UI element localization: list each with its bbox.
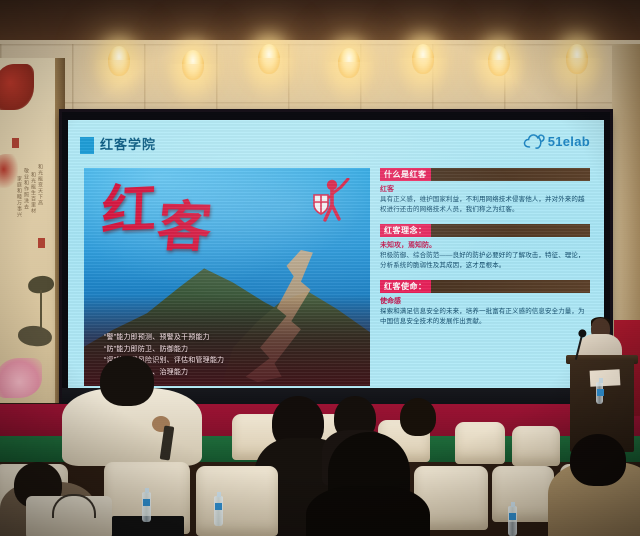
conference-photo: 和光能变天下高 和光能生百里材 敬业和作照洗去 家庭和睦万事兴 红客学院 51e… bbox=[0, 0, 640, 536]
audience-person-1-head bbox=[100, 356, 154, 406]
title-accent-tab bbox=[80, 137, 94, 154]
seal-upper bbox=[12, 138, 19, 148]
ceiling-light-4 bbox=[338, 48, 360, 78]
water-bottle-1 bbox=[142, 492, 151, 522]
water-bottle-3 bbox=[508, 506, 517, 536]
hero-calligraphy-char-1: 红 bbox=[101, 176, 159, 243]
audience-person-5-body bbox=[306, 486, 430, 536]
ceiling-light-5 bbox=[412, 44, 434, 74]
shield-warrior-icon bbox=[308, 178, 352, 224]
section-label: 什么是红客 bbox=[380, 168, 431, 181]
section-body: 具有正义感，维护国家利益，不利用网络技术侵害他人，并对外来的越权进行还击的网络技… bbox=[380, 195, 590, 214]
ceiling-light-6 bbox=[488, 46, 510, 76]
section-header: 红客理念： bbox=[380, 224, 590, 237]
section-header-bar bbox=[431, 224, 591, 237]
section-header-bar bbox=[431, 280, 591, 293]
hero-bullet-1: “警”能力即预测、预警及干预能力 bbox=[104, 332, 224, 344]
chair-back-5 bbox=[512, 426, 560, 466]
slide-section-philosophy: 红客理念： 未知攻，焉知防。 积极防御、综合防范——良好的防护必要好的了解攻击，… bbox=[380, 224, 590, 270]
podium-nameplate bbox=[590, 369, 621, 387]
section-body: 探索和满足信息安全的未来，培养一批富有正义感的信息安全力量，为中国信息安全技术的… bbox=[380, 307, 590, 326]
audience-person-4-head bbox=[400, 398, 436, 436]
section-header: 什么是红客 bbox=[380, 168, 590, 181]
section-subtitle: 红客 bbox=[380, 184, 590, 194]
section-label: 红客使命： bbox=[380, 280, 431, 293]
ceiling-light-1 bbox=[108, 46, 130, 76]
lotus-red-top bbox=[0, 64, 34, 110]
scroll-calligraphy-4: 家庭和睦万事兴 bbox=[15, 176, 22, 246]
slide-section-what-is: 什么是红客 红客 具有正义感，维护国家利益，不利用网络技术侵害他人，并对外来的越… bbox=[380, 168, 590, 214]
scroll-calligraphy-1: 和光能变天下高 bbox=[36, 164, 43, 234]
scroll-calligraphy-3: 敬业和作照洗去 bbox=[22, 168, 29, 238]
seal-lower bbox=[38, 238, 45, 248]
chair-front-3 bbox=[196, 466, 278, 536]
hero-calligraphy: 红客 bbox=[101, 179, 215, 237]
lotus-stem bbox=[40, 290, 42, 332]
water-bottle-4 bbox=[596, 382, 603, 404]
hero-calligraphy-char-2: 客 bbox=[155, 200, 216, 253]
section-body: 积极防御、综合防范——良好的防护必要好的了解攻击，特征、理论，分析系统的脆弱性及… bbox=[380, 251, 590, 270]
section-header-bar bbox=[431, 168, 591, 181]
section-subtitle: 未知攻，焉知防。 bbox=[380, 240, 590, 250]
slide-section-mission: 红客使命： 使命感 探索和满足信息安全的未来，培养一批富有正义感的信息安全力量，… bbox=[380, 280, 590, 326]
ceiling-light-3 bbox=[258, 44, 280, 74]
ceiling-light-2 bbox=[182, 50, 204, 80]
water-bottle-2 bbox=[214, 496, 223, 526]
scroll-calligraphy-2: 和光能生百里材 bbox=[29, 172, 36, 242]
brand-logo-text: 51elab bbox=[548, 134, 590, 149]
section-label: 红客理念： bbox=[380, 224, 431, 237]
cloud-icon bbox=[523, 133, 545, 150]
slide-title: 红客学院 bbox=[100, 134, 156, 153]
audience-person-7-head bbox=[570, 434, 626, 486]
section-header: 红客使命： bbox=[380, 280, 590, 293]
slide-text-column: 什么是红客 红客 具有正义感，维护国家利益，不利用网络技术侵害他人，并对外来的越… bbox=[380, 168, 590, 336]
brand-logo: 51elab bbox=[523, 133, 590, 150]
chair-back-4 bbox=[455, 422, 505, 464]
section-subtitle: 使命感 bbox=[380, 296, 590, 306]
chair-front-5 bbox=[492, 466, 554, 522]
foreground-audience bbox=[0, 346, 640, 536]
ceiling-light-7 bbox=[566, 44, 588, 74]
lotus-leaf-lower bbox=[17, 324, 53, 347]
